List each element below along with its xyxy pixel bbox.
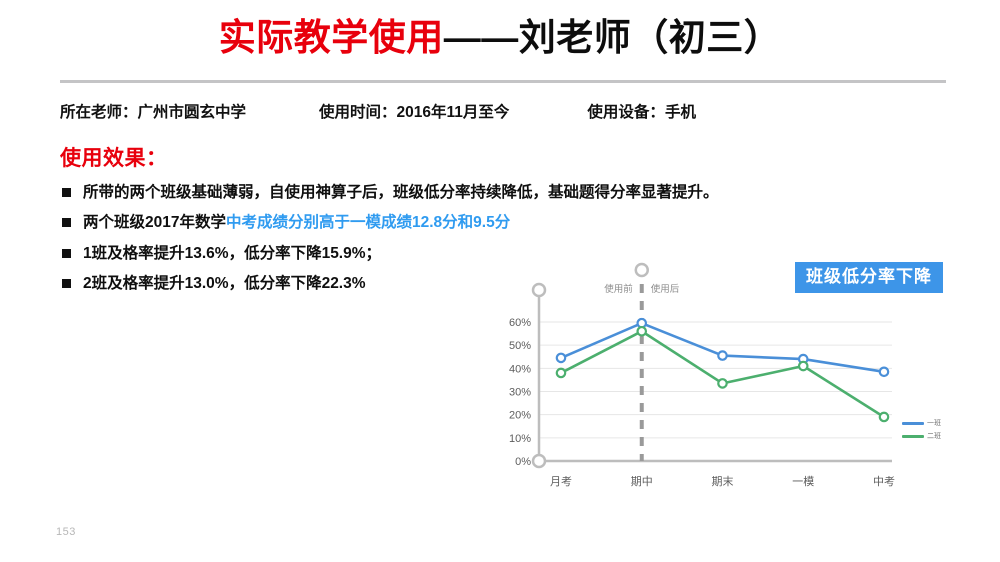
page-number: 153 — [56, 526, 76, 538]
title-black-part: ——刘老师（初三） — [444, 17, 782, 58]
divider-after-label: 使用后 — [651, 283, 680, 295]
info-value-device: 手机 — [665, 104, 696, 121]
bullet-1-segment-1: 所带的两个班级基础薄弱，自使用神算子后，班级低分率持续降低，基础题得分率显著提升… — [83, 184, 719, 201]
bullet-2-segment-2-highlight: 中考成绩分别高于一模成绩12.8分和9.5分 — [226, 214, 510, 231]
info-label-teacher-school: 所在老师： — [60, 104, 138, 121]
info-value-teacher-school: 广州市圆玄中学 — [138, 104, 247, 121]
bullet-4-segment-1: 2班及格率提升13.0%，低分率下降22.3% — [83, 275, 366, 292]
legend-swatch-series-1 — [902, 422, 924, 425]
page-title: 实际教学使用——刘老师（初三） — [0, 18, 1000, 59]
x-axis-tick-label: 月考 — [550, 475, 572, 488]
info-value-usage-time: 2016年11月至今 — [397, 104, 510, 121]
data-point-marker — [557, 354, 565, 362]
x-axis-tick-label: 期末 — [712, 474, 734, 488]
chart-badge: 班级低分率下降 — [795, 262, 943, 293]
list-item: 所带的两个班级基础薄弱，自使用神算子后，班级低分率持续降低，基础题得分率显著提升… — [62, 183, 942, 202]
chart-svg: 0%10%20%30%40%50%60%使用前使用后月考期中期末一模中考 — [492, 258, 984, 506]
y-axis-tick-label: 10% — [509, 433, 531, 445]
list-item-text: 2班及格率提升13.0%，低分率下降22.3% — [83, 274, 366, 293]
y-axis-tick-label: 50% — [509, 340, 531, 352]
data-point-marker — [638, 327, 646, 335]
list-item-text: 1班及格率提升13.6%，低分率下降15.9%； — [83, 244, 381, 263]
square-bullet-icon — [62, 188, 71, 197]
legend-label-series-1: 一班 — [927, 418, 941, 429]
legend-label-series-2: 二班 — [927, 431, 941, 442]
chart-legend: 一班 二班 — [902, 418, 941, 444]
legend-item-series-1: 一班 — [902, 418, 941, 429]
x-axis-tick-label: 期中 — [631, 475, 653, 488]
data-point-marker — [880, 413, 888, 421]
title-divider-rule — [60, 80, 946, 83]
square-bullet-icon — [62, 249, 71, 258]
list-item-text: 两个班级2017年数学中考成绩分别高于一模成绩12.8分和9.5分 — [83, 213, 510, 232]
y-axis-tick-label: 20% — [509, 410, 531, 422]
low-score-rate-line-chart: 0%10%20%30%40%50%60%使用前使用后月考期中期末一模中考 班级低… — [492, 258, 984, 506]
slide-root: 实际教学使用——刘老师（初三） 所在老师：广州市圆玄中学使用时间：2016年11… — [0, 0, 1000, 562]
info-item-usage-time: 使用时间：2016年11月至今 — [319, 100, 509, 122]
series-line-2 — [561, 331, 884, 417]
y-axis-tick-label: 0% — [515, 456, 531, 468]
effect-heading: 使用效果： — [60, 142, 168, 172]
y-axis-tick-label: 40% — [509, 363, 531, 375]
list-item: 两个班级2017年数学中考成绩分别高于一模成绩12.8分和9.5分 — [62, 213, 942, 232]
data-point-marker — [718, 379, 726, 387]
info-item-teacher-school: 所在老师：广州市圆玄中学 — [60, 100, 246, 122]
data-point-marker — [718, 351, 726, 359]
info-row: 所在老师：广州市圆玄中学使用时间：2016年11月至今使用设备：手机 — [60, 100, 940, 122]
info-label-device: 使用设备： — [587, 104, 665, 121]
title-red-part: 实际教学使用 — [219, 17, 444, 58]
x-axis-tick-label: 中考 — [873, 475, 895, 488]
legend-swatch-series-2 — [902, 435, 924, 438]
square-bullet-icon — [62, 218, 71, 227]
data-point-marker — [880, 368, 888, 376]
legend-item-series-2: 二班 — [902, 431, 941, 442]
y-axis-tick-label: 60% — [509, 317, 531, 329]
info-label-usage-time: 使用时间： — [319, 104, 397, 121]
bullet-2-segment-1: 两个班级2017年数学 — [83, 214, 226, 231]
list-item-text: 所带的两个班级基础薄弱，自使用神算子后，班级低分率持续降低，基础题得分率显著提升… — [83, 183, 719, 202]
data-point-marker — [557, 369, 565, 377]
y-axis-tick-label: 30% — [509, 387, 531, 399]
square-bullet-icon — [62, 279, 71, 288]
x-axis-tick-label: 一模 — [792, 475, 814, 488]
bullet-3-segment-1: 1班及格率提升13.6%，低分率下降15.9%； — [83, 245, 381, 262]
divider-before-label: 使用前 — [604, 283, 633, 295]
info-item-device: 使用设备：手机 — [587, 100, 696, 122]
data-point-marker — [799, 362, 807, 370]
